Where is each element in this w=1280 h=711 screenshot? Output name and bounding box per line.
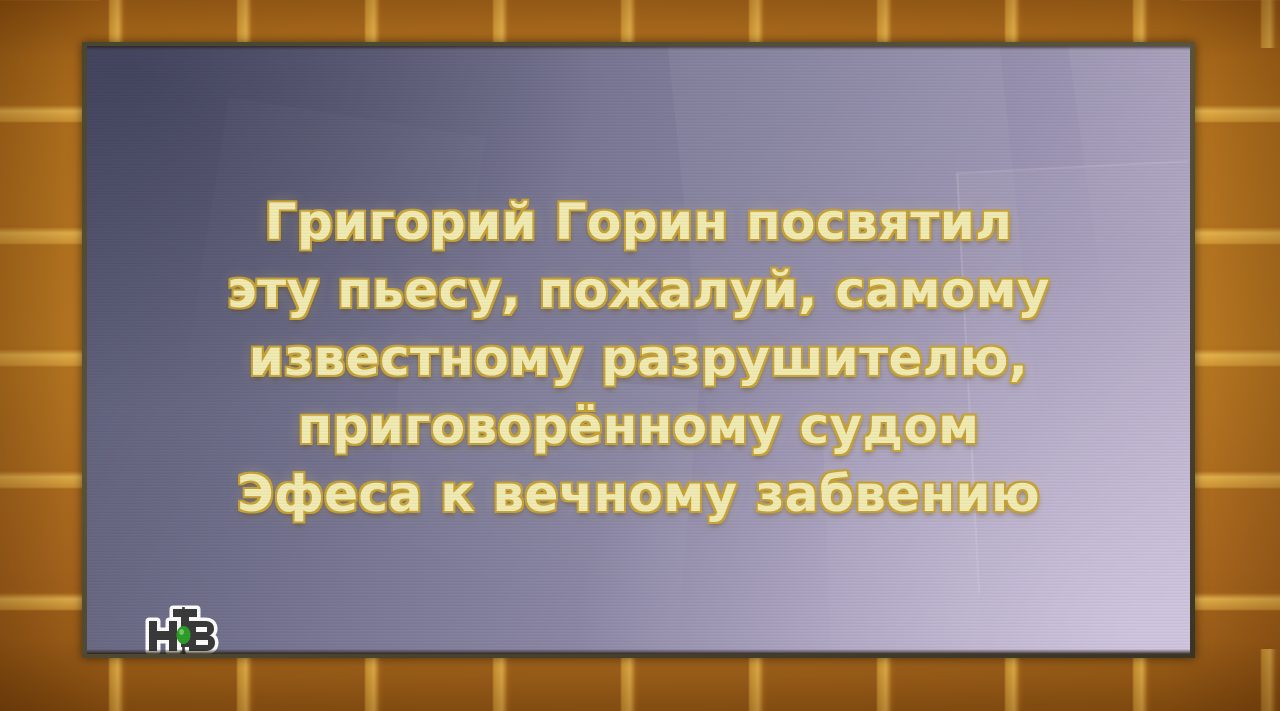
- screen-bezel: Григорий Горин посвятил эту пьесу, пожал…: [82, 42, 1195, 658]
- frame-band-top: [0, 0, 1280, 48]
- caption-line-2: эту пьесу, пожалуй, самому: [87, 256, 1190, 324]
- screen-top-edge: [87, 46, 1190, 50]
- caption-line-3: известному разрушителю,: [87, 324, 1190, 392]
- ntv-logo-icon: [143, 601, 221, 654]
- frame-band-bottom: [0, 649, 1280, 711]
- caption-text-block: Григорий Горин посвятил эту пьесу, пожал…: [87, 188, 1190, 528]
- caption-line-5: Эфеса к вечному забвению: [87, 460, 1190, 528]
- ntv-logo: [143, 601, 221, 654]
- projection-screen: Григорий Горин посвятил эту пьесу, пожал…: [87, 46, 1190, 654]
- frame-band-right: [1180, 0, 1280, 711]
- caption-line-1: Григорий Горин посвятил: [87, 188, 1190, 256]
- screenshot-stage: Григорий Горин посвятил эту пьесу, пожал…: [0, 0, 1280, 711]
- screen-bottom-edge: [87, 649, 1190, 654]
- caption-line-4: приговорённому судом: [87, 392, 1190, 460]
